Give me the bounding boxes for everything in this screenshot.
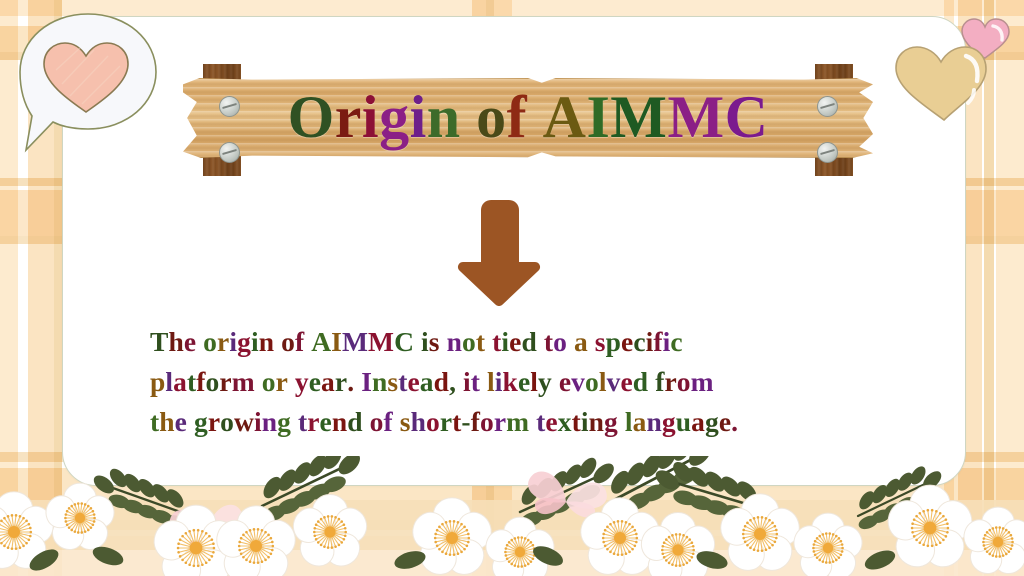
title-letter: r — [335, 362, 347, 402]
title-letter: n — [447, 322, 462, 362]
title-letter: - — [461, 402, 470, 442]
title-letter — [456, 362, 463, 402]
title-letter: g — [705, 402, 719, 442]
title-letter: y — [295, 362, 309, 402]
title-letter: s — [400, 402, 411, 442]
title-letter: d — [521, 322, 536, 362]
title-letter — [354, 362, 361, 402]
title-letter — [363, 402, 370, 442]
title-letter: f — [507, 83, 527, 152]
title-letter: c — [670, 322, 682, 362]
title-letter: t — [471, 362, 480, 402]
title-letter: i — [229, 322, 237, 362]
title-letter: r — [440, 402, 452, 442]
title-letter: y — [538, 362, 552, 402]
title-letter: i — [581, 402, 589, 442]
title-letter: o — [480, 402, 494, 442]
title-letter: o — [462, 322, 476, 362]
body-line-1: The origin of AIMMC is not tied to a spe… — [150, 322, 910, 362]
title-letter: g — [237, 322, 251, 362]
title-letter: n — [372, 362, 387, 402]
title-letter: m — [506, 402, 529, 442]
title-letter: r — [208, 402, 220, 442]
title-letter: i — [663, 322, 671, 362]
title-letter: t — [536, 402, 545, 442]
body-line-3: the growing trend of short-form texting … — [150, 402, 910, 442]
title-letter: i — [501, 322, 509, 362]
title-letter: g — [194, 402, 208, 442]
title-letter: d — [434, 362, 449, 402]
title-letter: . — [347, 362, 354, 402]
title-letter — [187, 402, 194, 442]
title-letter — [196, 322, 203, 362]
wooden-sign: Origin of AIMMC — [183, 60, 873, 178]
title-letter: O — [288, 83, 335, 152]
title-letter — [304, 322, 311, 362]
title-letter — [274, 322, 281, 362]
title-letter — [527, 83, 543, 152]
title-letter: o — [281, 322, 295, 362]
title-letter: r — [664, 362, 676, 402]
title-letter — [288, 362, 295, 402]
title-letter: e — [407, 362, 419, 402]
title-letter: e — [621, 322, 633, 362]
title-letter: s — [595, 322, 606, 362]
title-letter: i — [254, 402, 262, 442]
title-letter: n — [589, 402, 604, 442]
glossy-hearts-icon — [884, 2, 1024, 132]
title-letter: t — [150, 402, 159, 442]
title-letter: t — [398, 362, 407, 402]
title-letter: i — [410, 83, 427, 152]
title-letter: o — [585, 362, 599, 402]
speech-bubble-heart-icon — [8, 8, 163, 158]
title-letter: f — [196, 362, 205, 402]
title-letter: r — [335, 83, 362, 152]
title-letter — [461, 83, 477, 152]
title-letter: a — [633, 402, 647, 442]
title-letter: g — [379, 83, 410, 152]
title-letter: o — [206, 362, 220, 402]
title-letter: r — [217, 322, 229, 362]
title-letter: s — [387, 362, 398, 402]
title-letter: t — [476, 322, 485, 362]
title-letter: C — [394, 322, 414, 362]
title-letter — [485, 322, 492, 362]
title-letter: r — [276, 362, 288, 402]
title-letter: o — [426, 402, 440, 442]
title-letter: d — [633, 362, 648, 402]
title-letter: i — [251, 322, 259, 362]
title-letter — [440, 322, 447, 362]
title-letter: g — [604, 402, 618, 442]
title-letter: n — [427, 83, 461, 152]
title-letter: i — [421, 322, 429, 362]
title-letter: t — [298, 402, 307, 442]
title-letter: e — [559, 362, 571, 402]
title-letter: t — [572, 402, 581, 442]
title-letter: C — [725, 83, 769, 152]
title-letter: M — [368, 322, 394, 362]
title-letter: T — [150, 322, 168, 362]
title-letter — [414, 322, 421, 362]
title-letter: t — [544, 322, 553, 362]
title-letter: f — [471, 402, 480, 442]
title-letter — [393, 402, 400, 442]
title-letter: , — [449, 362, 456, 402]
title-letter: o — [220, 402, 234, 442]
title-letter: a — [574, 322, 588, 362]
body-line-2: platform or year. Instead, it likely evo… — [150, 362, 910, 402]
title-letter: g — [662, 402, 676, 442]
title-letter — [291, 402, 298, 442]
title-letter: p — [606, 322, 621, 362]
floral-border — [0, 456, 1024, 576]
title-letter: s — [429, 322, 440, 362]
title-letter: a — [691, 402, 705, 442]
title-letter: e — [175, 402, 187, 442]
title-letter: e — [320, 402, 332, 442]
title-letter: h — [159, 402, 174, 442]
title-letter — [648, 362, 655, 402]
body-paragraph: The origin of AIMMC is not tied to a spe… — [150, 322, 910, 442]
title-letter: l — [530, 362, 538, 402]
title-letter: I — [586, 83, 610, 152]
title-letter: d — [347, 402, 362, 442]
title-letter: c — [633, 322, 645, 362]
title-letter: A — [543, 83, 587, 152]
title-letter: o — [262, 362, 276, 402]
title-letter: i — [463, 362, 471, 402]
title-letter: l — [165, 362, 173, 402]
title-letter: u — [676, 402, 691, 442]
slide-canvas: Origin of AIMMC The origin of AIMMC is n… — [0, 0, 1024, 576]
title-letter: A — [311, 322, 331, 362]
title-letter: g — [277, 402, 291, 442]
title-letter: a — [321, 362, 335, 402]
title-letter — [537, 322, 544, 362]
title-letter: e — [719, 402, 731, 442]
title-letter: f — [653, 322, 662, 362]
title-letter: h — [411, 402, 426, 442]
title-letter: m — [691, 362, 714, 402]
title-letter — [529, 402, 536, 442]
title-letter: o — [677, 362, 691, 402]
title-letter: f — [384, 402, 393, 442]
down-arrow-icon — [455, 196, 545, 306]
title-letter: r — [494, 402, 506, 442]
title-letter: o — [553, 322, 567, 362]
title-letter — [480, 362, 487, 402]
title-letter: o — [203, 322, 217, 362]
title-letter: x — [558, 402, 572, 442]
title-letter: I — [331, 322, 342, 362]
title-letter: r — [219, 362, 231, 402]
title-letter: v — [607, 362, 621, 402]
title-letter: l — [625, 402, 633, 442]
title-letter: o — [476, 83, 507, 152]
title-letter — [588, 322, 595, 362]
title-letter: t — [492, 322, 501, 362]
title-letter: e — [309, 362, 321, 402]
title-letter: i — [495, 362, 503, 402]
title-letter: f — [295, 322, 304, 362]
title-letter — [552, 362, 559, 402]
title-letter: e — [509, 322, 521, 362]
title-letter: k — [503, 362, 518, 402]
title-letter: e — [620, 362, 632, 402]
title-letter: a — [173, 362, 187, 402]
title-letter: w — [234, 402, 254, 442]
title-letter: i — [362, 83, 379, 152]
title-letter: n — [262, 402, 277, 442]
title-letter: p — [150, 362, 165, 402]
title-letter: t — [187, 362, 196, 402]
title-letter: e — [184, 322, 196, 362]
title-letter: I — [361, 362, 372, 402]
title-letter: n — [259, 322, 274, 362]
title-letter: . — [731, 402, 738, 442]
title-letter: M — [610, 83, 667, 152]
title-letter: n — [646, 402, 661, 442]
title-letter — [567, 322, 574, 362]
title-letter: m — [232, 362, 255, 402]
title-letter: e — [518, 362, 530, 402]
title-letter: n — [332, 402, 347, 442]
title-letter — [618, 402, 625, 442]
title-letter: a — [420, 362, 434, 402]
title-letter: f — [655, 362, 664, 402]
title-letter: l — [599, 362, 607, 402]
title-letter: r — [307, 402, 319, 442]
title-letter: i — [646, 322, 654, 362]
slide-title: Origin of AIMMC — [183, 78, 873, 156]
title-letter: t — [452, 402, 461, 442]
title-letter: M — [667, 83, 724, 152]
title-letter: M — [342, 322, 368, 362]
title-letter: v — [571, 362, 585, 402]
title-letter: o — [370, 402, 384, 442]
title-letter: e — [545, 402, 557, 442]
title-letter — [255, 362, 262, 402]
title-letter: l — [487, 362, 495, 402]
title-letter: h — [168, 322, 183, 362]
